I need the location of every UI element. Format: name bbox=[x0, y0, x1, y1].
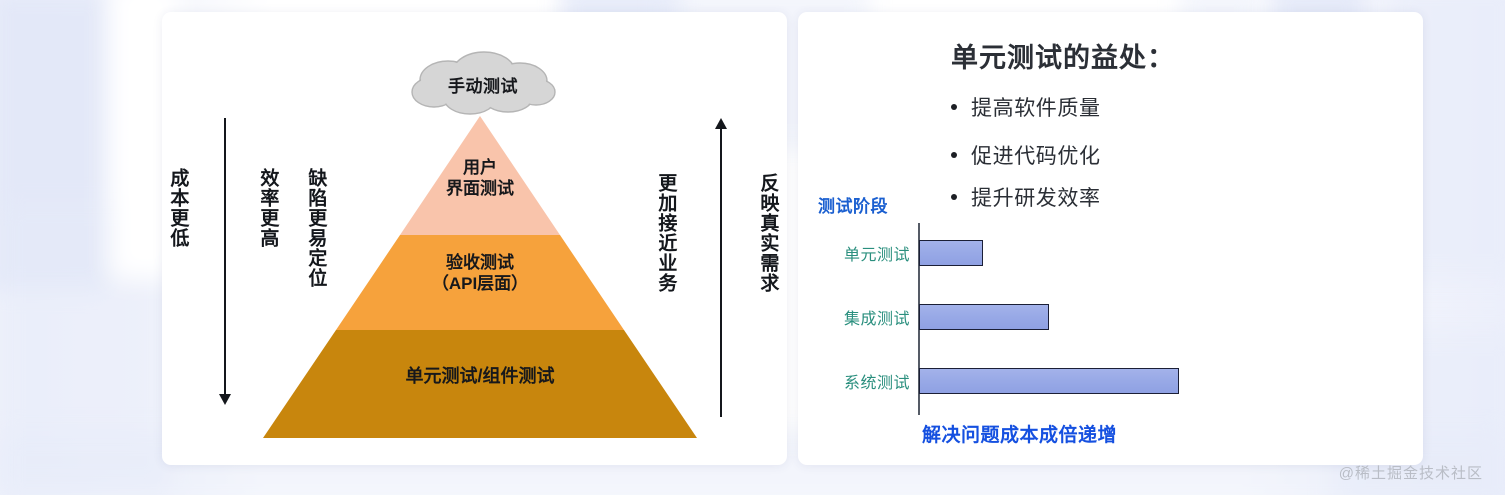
chart-x-axis-label: 解决问题成本成倍递增 bbox=[922, 420, 1117, 447]
benefit-label: 促进代码优化 bbox=[971, 140, 1101, 170]
bar-category-label: 系统测试 bbox=[818, 369, 919, 393]
realism-arrow-line bbox=[720, 129, 722, 417]
cost-arrow-line bbox=[224, 118, 226, 396]
pyramid-tier-ui bbox=[400, 116, 560, 235]
bar-category-label: 集成测试 bbox=[818, 305, 919, 329]
bar-row-system: 系统测试 bbox=[818, 367, 1179, 395]
bar-category-label: 单元测试 bbox=[818, 241, 919, 265]
benefits-title: 单元测试的益处： bbox=[951, 36, 1175, 75]
cloud-label: 手动测试 bbox=[404, 72, 562, 97]
pyramid-tier-acceptance bbox=[336, 235, 624, 330]
slide-canvas: 成本更低 效率更高 缺陷更易定位 更加接近业务 反映真实需求 bbox=[0, 0, 1505, 495]
label-cost-lower: 成本更低 bbox=[168, 168, 187, 248]
realism-arrow-head bbox=[715, 118, 727, 129]
bar-unit bbox=[919, 240, 983, 266]
benefit-label: 提高软件质量 bbox=[971, 92, 1101, 122]
bar-row-unit: 单元测试 bbox=[818, 239, 983, 267]
bullet-icon bbox=[951, 152, 957, 158]
bullet-icon bbox=[951, 104, 957, 110]
benefit-item-2: 促进代码优化 bbox=[951, 140, 1101, 170]
cost-bar-chart: 测试阶段 单元测试 集成测试 系统测试 解决问题成本成倍递增 bbox=[818, 192, 1218, 450]
benefit-item-1: 提高软件质量 bbox=[951, 92, 1101, 122]
label-reflect-real-needs: 反映真实需求 bbox=[758, 173, 777, 293]
bar-integration bbox=[919, 304, 1049, 330]
cost-arrow-head bbox=[219, 394, 231, 405]
test-pyramid: 用户 界面测试 验收测试 （API层面） 单元测试/组件测试 bbox=[263, 116, 697, 438]
watermark: @稀土掘金技术社区 bbox=[1339, 462, 1483, 483]
chart-y-axis-title: 测试阶段 bbox=[818, 192, 888, 217]
pyramid-tier-unit bbox=[263, 330, 697, 438]
bar-system bbox=[919, 368, 1179, 394]
bar-row-integration: 集成测试 bbox=[818, 303, 1049, 331]
